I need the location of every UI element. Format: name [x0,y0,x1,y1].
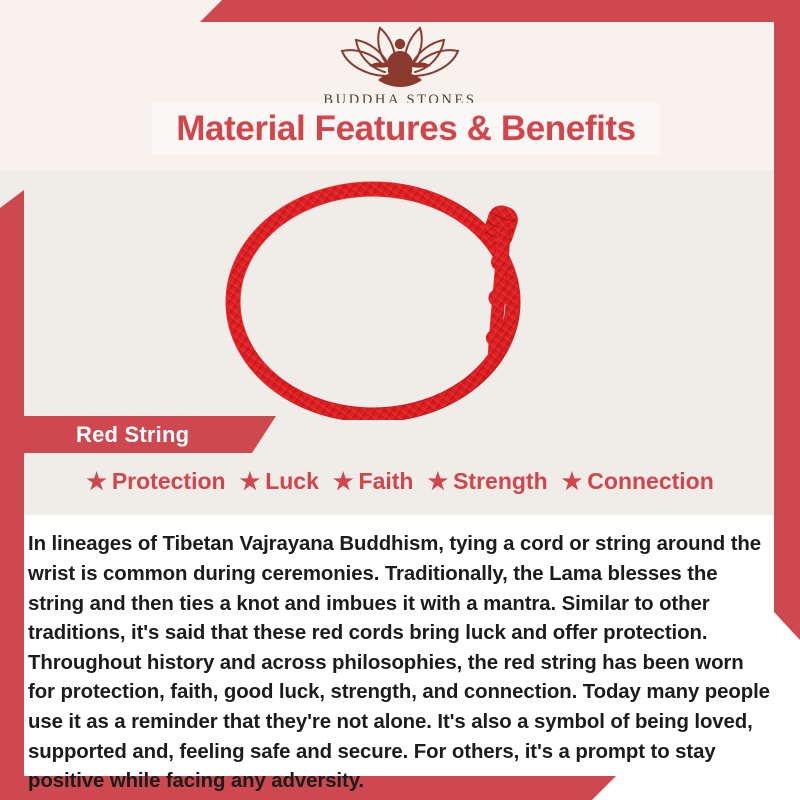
feature-label: Faith [359,468,414,495]
feature-label: Luck [265,468,319,495]
product-name-ribbon: Red String [24,416,276,453]
decorative-band-left [0,190,24,800]
lotus-meditation-figure-icon [325,18,475,90]
star-icon: ★ [562,470,583,493]
page-title: Material Features & Benefits [176,109,636,149]
feature-item-connection: ★ Connection [556,468,720,495]
star-icon: ★ [427,470,448,493]
feature-item-protection: ★ Protection [80,468,231,495]
brand-logo: BUDDHA STONES [0,18,800,109]
title-banner: Material Features & Benefits [152,103,660,155]
star-icon: ★ [86,470,107,493]
red-braided-string-bracelet-illustration [24,170,776,420]
feature-list: ★ Protection ★ Luck ★ Faith ★ Strength ★… [24,468,776,495]
star-icon: ★ [333,470,354,493]
product-image [24,170,776,420]
product-feature-poster: BUDDHA STONES Material Features & Benefi… [0,0,800,800]
feature-label: Strength [453,468,548,495]
product-name: Red String [76,422,189,448]
feature-label: Protection [112,468,226,495]
feature-item-strength: ★ Strength [421,468,553,495]
feature-item-luck: ★ Luck [234,468,325,495]
star-icon: ★ [240,470,261,493]
feature-label: Connection [587,468,714,495]
feature-item-faith: ★ Faith [327,468,420,495]
description-text: In lineages of Tibetan Vajrayana Buddhis… [28,530,773,796]
